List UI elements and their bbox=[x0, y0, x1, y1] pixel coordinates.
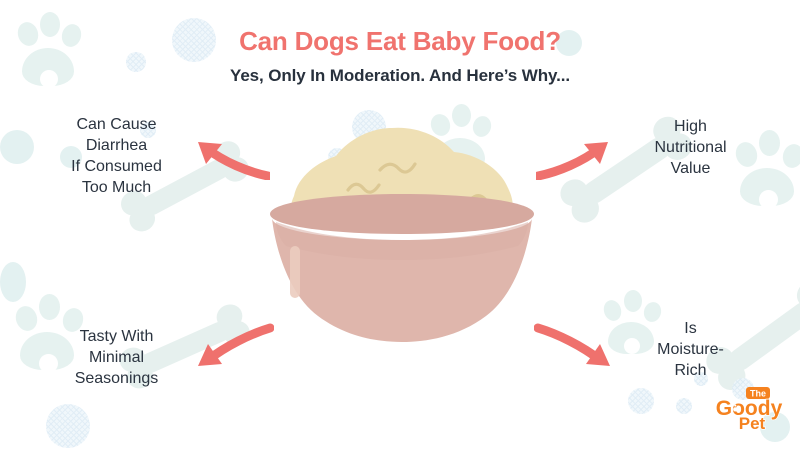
benefit-label-tasty-with-minimal-seasonings: Tasty With Minimal Seasonings bbox=[34, 326, 199, 389]
arrow-to-bottom-left-label bbox=[186, 322, 274, 380]
bowl-illustration bbox=[252, 118, 552, 348]
brand-logo[interactable]: The Goody Pet bbox=[712, 386, 786, 432]
dotted-circle-decoration bbox=[628, 388, 654, 414]
benefit-label-high-nutritional-value: High Nutritional Value bbox=[608, 116, 773, 179]
logo-pet-text: Pet bbox=[739, 414, 766, 432]
goody-pet-logo-icon: The Goody Pet bbox=[712, 386, 786, 432]
infographic-canvas: Can Dogs Eat Baby Food? Yes, Only In Mod… bbox=[0, 0, 800, 450]
dotted-circle-decoration bbox=[46, 404, 90, 448]
benefit-label-is-moisture-rich: Is Moisture- Rich bbox=[608, 318, 773, 381]
page-title: Can Dogs Eat Baby Food? bbox=[0, 26, 800, 57]
dot-decoration bbox=[0, 130, 34, 164]
dotted-circle-decoration bbox=[676, 398, 692, 414]
bowl-of-baby-food-icon bbox=[252, 118, 552, 348]
page-subtitle: Yes, Only In Moderation. And Here’s Why.… bbox=[0, 66, 800, 86]
dot-decoration bbox=[0, 262, 26, 302]
benefit-label-can-cause-diarrhea: Can Cause Diarrhea If Consumed Too Much bbox=[34, 114, 199, 198]
